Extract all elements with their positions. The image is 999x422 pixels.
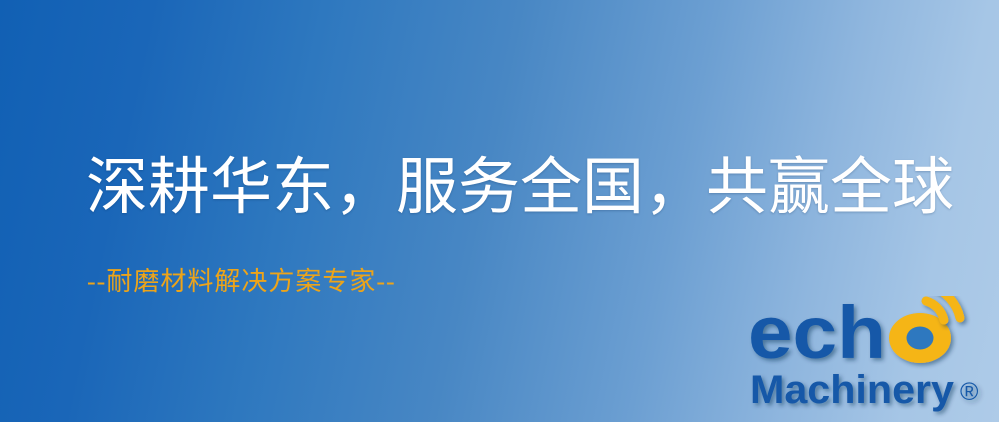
registered-trademark-icon: ® <box>960 378 979 406</box>
logo-tagline-text: Machinery <box>750 368 955 412</box>
hero-banner: 深耕华东，服务全国，共赢全球 --耐磨材料解决方案专家-- ech <box>0 0 999 422</box>
logo-tagline: Machinery ® <box>750 368 979 412</box>
page-subtitle: --耐磨材料解决方案专家-- <box>87 266 396 298</box>
company-logo: ech Machinery ® <box>748 296 996 420</box>
logo-wordmark-ech: ech <box>748 296 886 374</box>
page-title: 深耕华东，服务全国，共赢全球 <box>86 152 954 224</box>
logo-wordmark-text: ech <box>748 296 886 374</box>
logo-o-inner <box>907 327 934 350</box>
